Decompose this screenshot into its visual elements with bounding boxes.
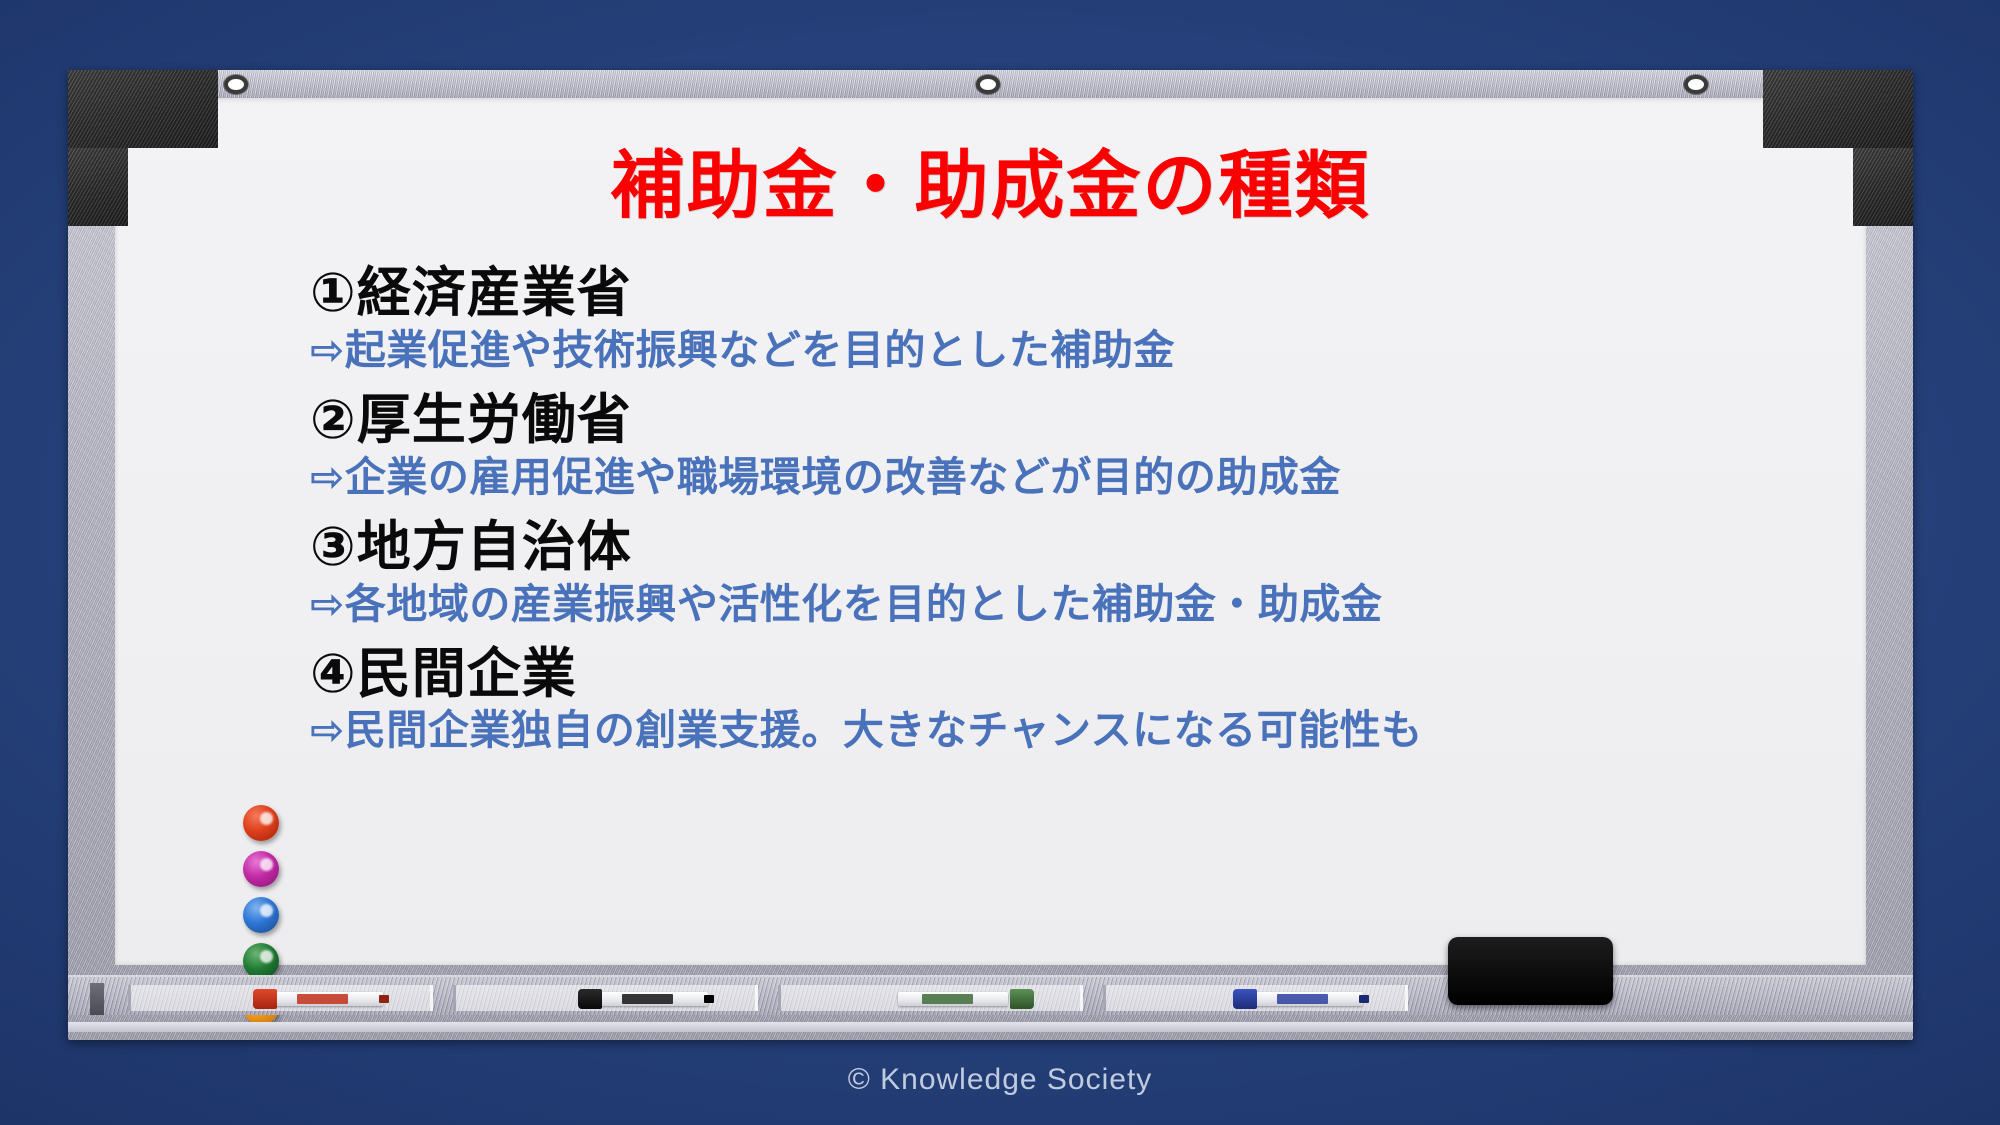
- tray-endcap: [90, 983, 104, 1015]
- item-heading-2: ②厚生労働省: [310, 390, 1806, 450]
- item-detail-4: ⇨民間企業独自の創業支援。大きなチャンスになる可能性も: [310, 706, 1806, 754]
- list-item: ①経済産業省 ⇨起業促進や技術振興などを目的とした補助金: [310, 263, 1806, 374]
- whiteboard-top-rail: [68, 70, 1913, 98]
- screw-icon: [1688, 79, 1704, 90]
- magnet-red-icon: [243, 805, 279, 841]
- list-item: ②厚生労働省 ⇨企業の雇用促進や職場環境の改善などが目的の助成金: [310, 390, 1806, 501]
- item-heading-4: ④民間企業: [310, 644, 1806, 704]
- tray-lip: [68, 1022, 1913, 1032]
- marker-red-icon: [273, 992, 383, 1006]
- whiteboard-eraser: [1448, 937, 1613, 1005]
- screw-icon: [980, 79, 996, 90]
- item-heading-3: ③地方自治体: [310, 517, 1806, 577]
- magnet-blue-icon: [243, 897, 279, 933]
- item-detail-3: ⇨各地域の産業振興や活性化を目的とした補助金・助成金: [310, 580, 1806, 628]
- list-item: ③地方自治体 ⇨各地域の産業振興や活性化を目的とした補助金・助成金: [310, 517, 1806, 628]
- marker-black-icon: [598, 992, 708, 1006]
- slide-content: 補助金・助成金の種類 ①経済産業省 ⇨起業促進や技術振興などを目的とした補助金 …: [115, 98, 1866, 965]
- screw-icon: [228, 79, 244, 90]
- magnet-magenta-icon: [243, 851, 279, 887]
- item-detail-2: ⇨企業の雇用促進や職場環境の改善などが目的の助成金: [310, 453, 1806, 501]
- list-item: ④民間企業 ⇨民間企業独自の創業支援。大きなチャンスになる可能性も: [310, 644, 1806, 755]
- item-detail-1: ⇨起業促進や技術振興などを目的とした補助金: [310, 326, 1806, 374]
- marker-tray: [68, 965, 1913, 1040]
- marker-green-icon: [898, 992, 1008, 1006]
- item-list: ①経済産業省 ⇨起業促進や技術振興などを目的とした補助金 ②厚生労働省 ⇨企業の…: [175, 263, 1806, 754]
- page-title: 補助金・助成金の種類: [175, 146, 1806, 227]
- footer-credit: © Knowledge Society: [0, 1063, 2000, 1097]
- item-heading-1: ①経済産業省: [310, 263, 1806, 323]
- marker-blue-icon: [1253, 992, 1363, 1006]
- whiteboard: 補助金・助成金の種類 ①経済産業省 ⇨起業促進や技術振興などを目的とした補助金 …: [68, 70, 1913, 1040]
- slide-canvas: 補助金・助成金の種類 ①経済産業省 ⇨起業促進や技術振興などを目的とした補助金 …: [0, 0, 2000, 1125]
